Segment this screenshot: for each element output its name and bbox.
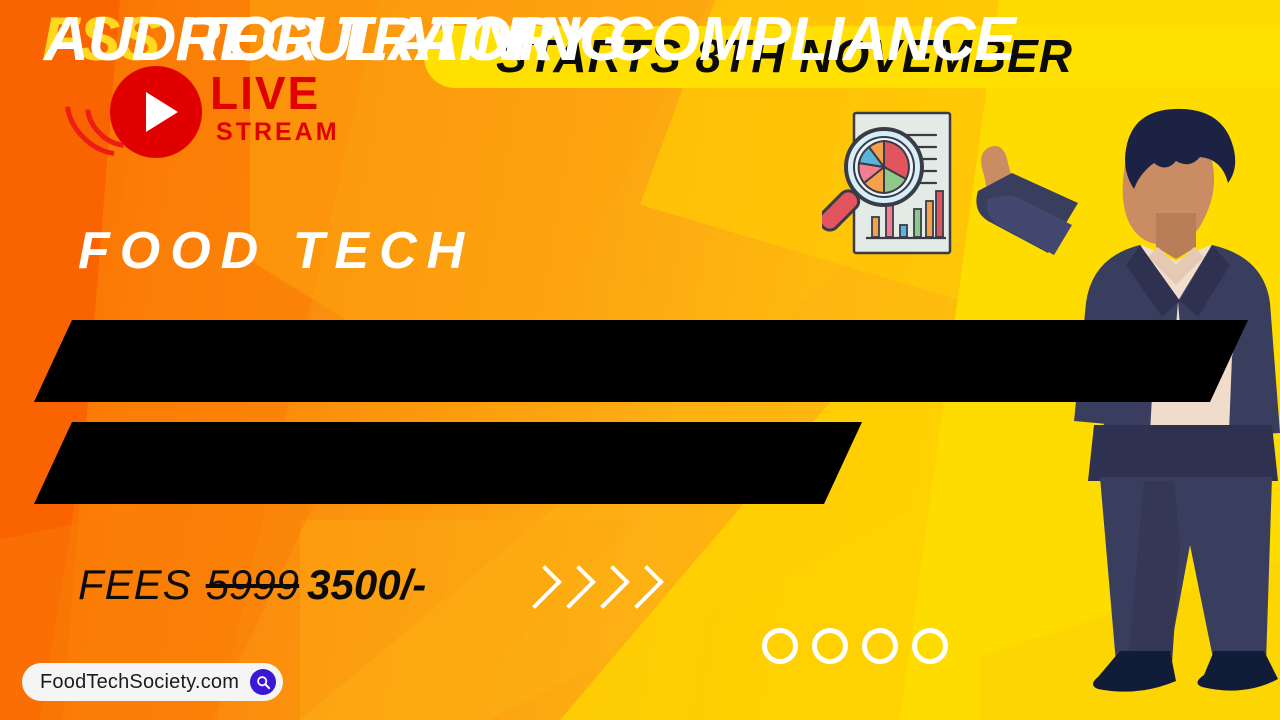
fees-label: FEES: [78, 561, 192, 608]
category-eyebrow: FOOD TECH: [78, 225, 474, 277]
play-triangle-icon: [146, 92, 178, 132]
chevron-arrows: [528, 562, 668, 610]
dot-icon: [862, 628, 898, 664]
fees-old-price: 5999: [206, 561, 299, 608]
businessman-illustration: [960, 95, 1280, 720]
chevron-icon: [620, 565, 664, 609]
promo-banner: LIVE STREAM STARTS 8TH NOVEMBER FOOD TEC…: [0, 0, 1280, 720]
dot-icon: [762, 628, 798, 664]
headline-band-secondary: [34, 422, 862, 504]
website-badge[interactable]: FoodTechSociety.com: [22, 663, 283, 701]
website-name: FoodTechSociety.com: [40, 671, 239, 694]
search-icon[interactable]: [250, 669, 276, 695]
dot-row: [762, 628, 942, 662]
headline-line-2: AUDITOR TRAINING: [44, 0, 626, 82]
fees-new-price: 3500/-: [307, 561, 426, 608]
headline-band-primary: [34, 320, 1248, 402]
dot-icon: [912, 628, 948, 664]
fees-line: FEES59993500/-: [78, 560, 426, 610]
dot-icon: [812, 628, 848, 664]
stream-label: STREAM: [216, 120, 340, 145]
